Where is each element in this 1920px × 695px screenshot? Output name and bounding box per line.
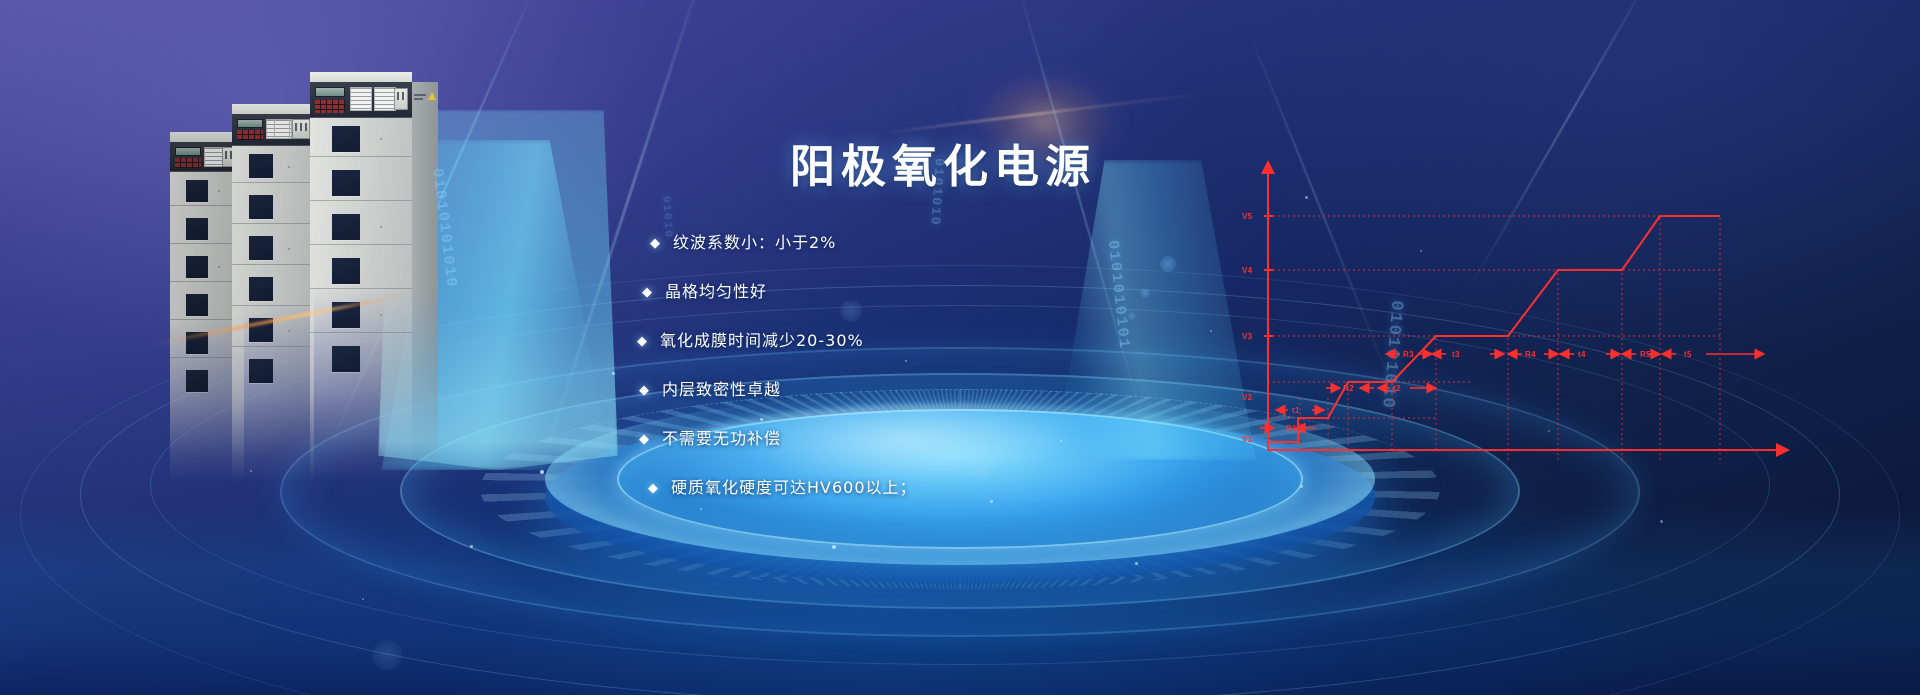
cabinet-vent (332, 126, 360, 152)
chart-label-t4: t4 (1578, 350, 1586, 359)
list-item: ◆ 不需要无功补偿 (639, 431, 1260, 447)
chart-label-r1: R1 (1286, 424, 1297, 433)
list-item-label: 晶格均匀性好 (665, 284, 767, 300)
list-item: ◆ 硬质氧化硬度可达HV600以上； (648, 480, 1260, 496)
cabinet-screw (380, 138, 382, 140)
cabinet-label-card (274, 119, 290, 139)
cabinet-vent (186, 294, 208, 316)
cabinet-label-card (350, 87, 372, 111)
power-cabinet-front (310, 82, 412, 482)
cabinet-vent (249, 195, 273, 219)
chart-label-t5: t5 (1684, 350, 1692, 359)
cabinet-body (310, 82, 412, 482)
product-group-power-cabinets (170, 82, 480, 482)
banner-copy: 阳极氧化电源 ◆ 纹波系数小：小于2% ◆ 晶格均匀性好 ◆ 氧化成膜时间减少2… (640, 140, 1260, 496)
list-item-label: 内层致密性卓越 (662, 382, 781, 398)
list-item: ◆ 纹波系数小：小于2% (650, 235, 1260, 251)
cabinet-screw (218, 266, 220, 268)
cabinet-screw (380, 226, 382, 228)
cabinet-label-card (374, 87, 396, 111)
cabinet-seam (232, 305, 314, 306)
cabinet-screw (380, 314, 382, 316)
cabinet-keypad-icon (315, 100, 345, 113)
badge-bar-icon (414, 98, 423, 100)
cabinet-display-icon (237, 119, 263, 128)
banner-stage: 01010101010 0101010 0101010101 010101010… (0, 0, 1920, 695)
cabinet-control-panel (310, 82, 412, 118)
lens-flare-streak (881, 92, 1209, 134)
list-item: ◆ 内层致密性卓越 (639, 382, 1260, 398)
cabinet-meter-icon (394, 88, 408, 110)
chart-label-r3: R3 (1403, 350, 1414, 359)
cabinet-body (232, 114, 314, 482)
chart-label-r5: R5 (1640, 350, 1651, 359)
cabinet-keypad-icon (237, 130, 263, 140)
chart-dimension-labels: R1 t1 R2 t2 R3 t3 R4 t4 R5 t5 (1286, 350, 1692, 433)
cabinet-seam (232, 182, 314, 183)
list-item-label: 硬质氧化硬度可达HV600以上； (671, 480, 917, 496)
list-item-label: 氧化成膜时间减少20-30% (660, 333, 864, 349)
cabinet-display-icon (315, 87, 345, 97)
cabinet-seam (310, 332, 412, 333)
chart-time-dividers (1300, 216, 1720, 460)
chart-label-t2: t2 (1393, 384, 1401, 393)
cabinet-vent (332, 346, 360, 372)
cabinet-vent (249, 236, 273, 260)
cabinet-seam (232, 264, 314, 265)
cabinet-seam (232, 223, 314, 224)
chart-waveform (1270, 216, 1720, 442)
cabinet-side-face (412, 82, 438, 482)
cabinet-top (310, 72, 412, 82)
cabinet-vent (186, 218, 208, 240)
cabinet-top (232, 104, 314, 114)
cabinet-screw (288, 166, 290, 168)
cabinet-seam (310, 244, 412, 245)
floor-sheen (0, 505, 1920, 695)
diamond-bullet-icon: ◆ (642, 286, 653, 299)
cabinet-meter-icon (292, 119, 310, 139)
feature-list: ◆ 纹波系数小：小于2% ◆ 晶格均匀性好 ◆ 氧化成膜时间减少20-30% ◆… (640, 235, 1260, 496)
chart-label-r4: R4 (1525, 350, 1536, 359)
chart-label-t3: t3 (1452, 350, 1460, 359)
list-item: ◆ 晶格均匀性好 (642, 284, 1260, 300)
chart-svg: V5 V4 V3 V2 V1 R1 t1 R2 t2 R3 t3 R4 t4 R… (1240, 150, 1800, 470)
cabinet-vent (249, 154, 273, 178)
diamond-bullet-icon: ◆ (648, 482, 659, 495)
voltage-ramp-chart: V5 V4 V3 V2 V1 R1 t1 R2 t2 R3 t3 R4 t4 R… (1240, 150, 1800, 470)
diamond-bullet-icon: ◆ (650, 237, 661, 250)
diamond-bullet-icon: ◆ (637, 335, 648, 348)
diamond-bullet-icon: ◆ (639, 433, 650, 446)
cabinet-vent (186, 370, 208, 392)
cabinet-seam (310, 288, 412, 289)
cabinet-vent (186, 256, 208, 278)
cabinet-screw (288, 330, 290, 332)
warning-triangle-icon (428, 92, 436, 100)
cabinet-vent (249, 359, 273, 383)
cabinet-seam (310, 200, 412, 201)
chart-label-t1: t1 (1292, 406, 1300, 415)
cabinet-vent (332, 170, 360, 196)
chart-axes (1268, 162, 1788, 450)
diamond-bullet-icon: ◆ (639, 384, 650, 397)
cabinet-vent (186, 180, 208, 202)
list-item-label: 纹波系数小：小于2% (673, 235, 836, 251)
power-cabinet-middle (232, 114, 314, 482)
cabinet-vent (332, 258, 360, 284)
cabinet-warning-badge (414, 92, 436, 102)
list-item-label: 不需要无功补偿 (662, 431, 781, 447)
cabinet-vent (332, 214, 360, 240)
cabinet-screw (218, 190, 220, 192)
cabinet-display-icon (175, 147, 201, 156)
cabinet-vent (249, 277, 273, 301)
chart-label-r2: R2 (1343, 384, 1354, 393)
cabinet-seam (310, 156, 412, 157)
cabinet-control-panel (232, 114, 314, 146)
cabinet-keypad-icon (175, 158, 201, 168)
cabinet-screw (288, 248, 290, 250)
page-title: 阳极氧化电源 (790, 140, 1260, 193)
badge-bar-icon (414, 94, 426, 96)
list-item: ◆ 氧化成膜时间减少20-30% (637, 333, 1260, 349)
cabinet-seam (232, 346, 314, 347)
